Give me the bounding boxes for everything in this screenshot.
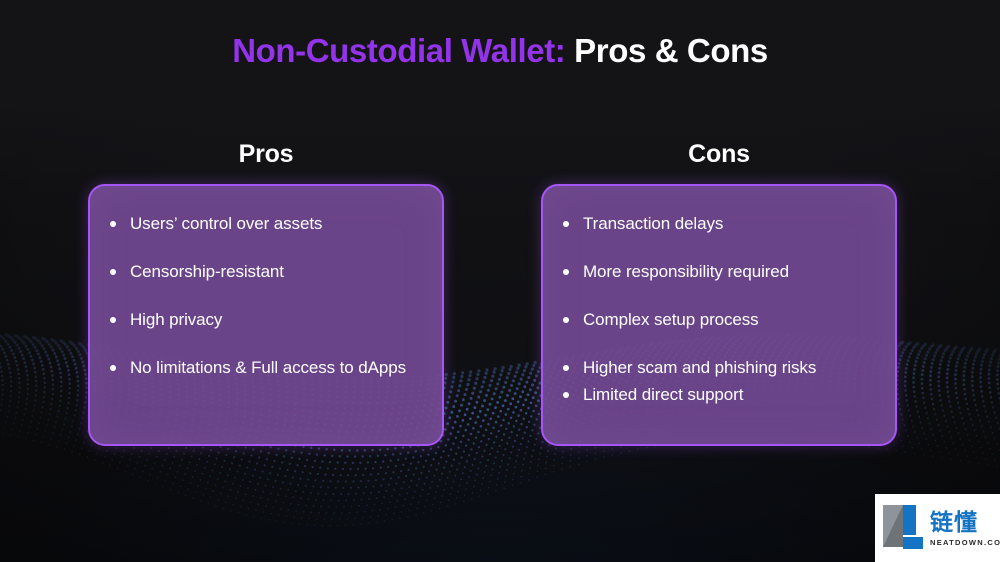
page-title-accent: Non-Custodial Wallet: — [232, 32, 565, 69]
bullet-list-cons: Transaction delays More responsibility r… — [561, 212, 877, 407]
list-item: High privacy — [108, 308, 424, 332]
slide-root: Non-Custodial Wallet: Pros & Cons Pros U… — [0, 0, 1000, 562]
list-item: Transaction delays — [561, 212, 877, 236]
list-item: Limited direct support — [561, 383, 877, 407]
card-pros: Users’ control over assets Censorship-re… — [88, 184, 444, 446]
page-title-plain: Pros & Cons — [565, 32, 767, 69]
list-item: More responsibility required — [561, 260, 877, 284]
list-item: No limitations & Full access to dApps — [108, 356, 424, 380]
column-cons: Cons Transaction delays More responsibil… — [541, 138, 897, 446]
list-item: Higher scam and phishing risks — [561, 356, 877, 380]
page-title: Non-Custodial Wallet: Pros & Cons — [0, 30, 1000, 72]
list-item: Complex setup process — [561, 308, 877, 332]
column-heading-pros: Pros — [88, 138, 444, 170]
logo-text: 链懂 NEATDOWN.COM — [930, 508, 1000, 548]
list-item: Censorship-resistant — [108, 260, 424, 284]
card-cons: Transaction delays More responsibility r… — [541, 184, 897, 446]
logo-mark-icon — [881, 503, 925, 553]
column-pros: Pros Users’ control over assets Censorsh… — [88, 138, 444, 446]
logo-domain: NEATDOWN.COM — [930, 537, 1000, 548]
watermark-logo: 链懂 NEATDOWN.COM — [875, 494, 1000, 562]
list-item: Users’ control over assets — [108, 212, 424, 236]
logo-brand-cn: 链懂 — [930, 510, 1000, 535]
bullet-list-pros: Users’ control over assets Censorship-re… — [108, 212, 424, 380]
column-heading-cons: Cons — [541, 138, 897, 170]
